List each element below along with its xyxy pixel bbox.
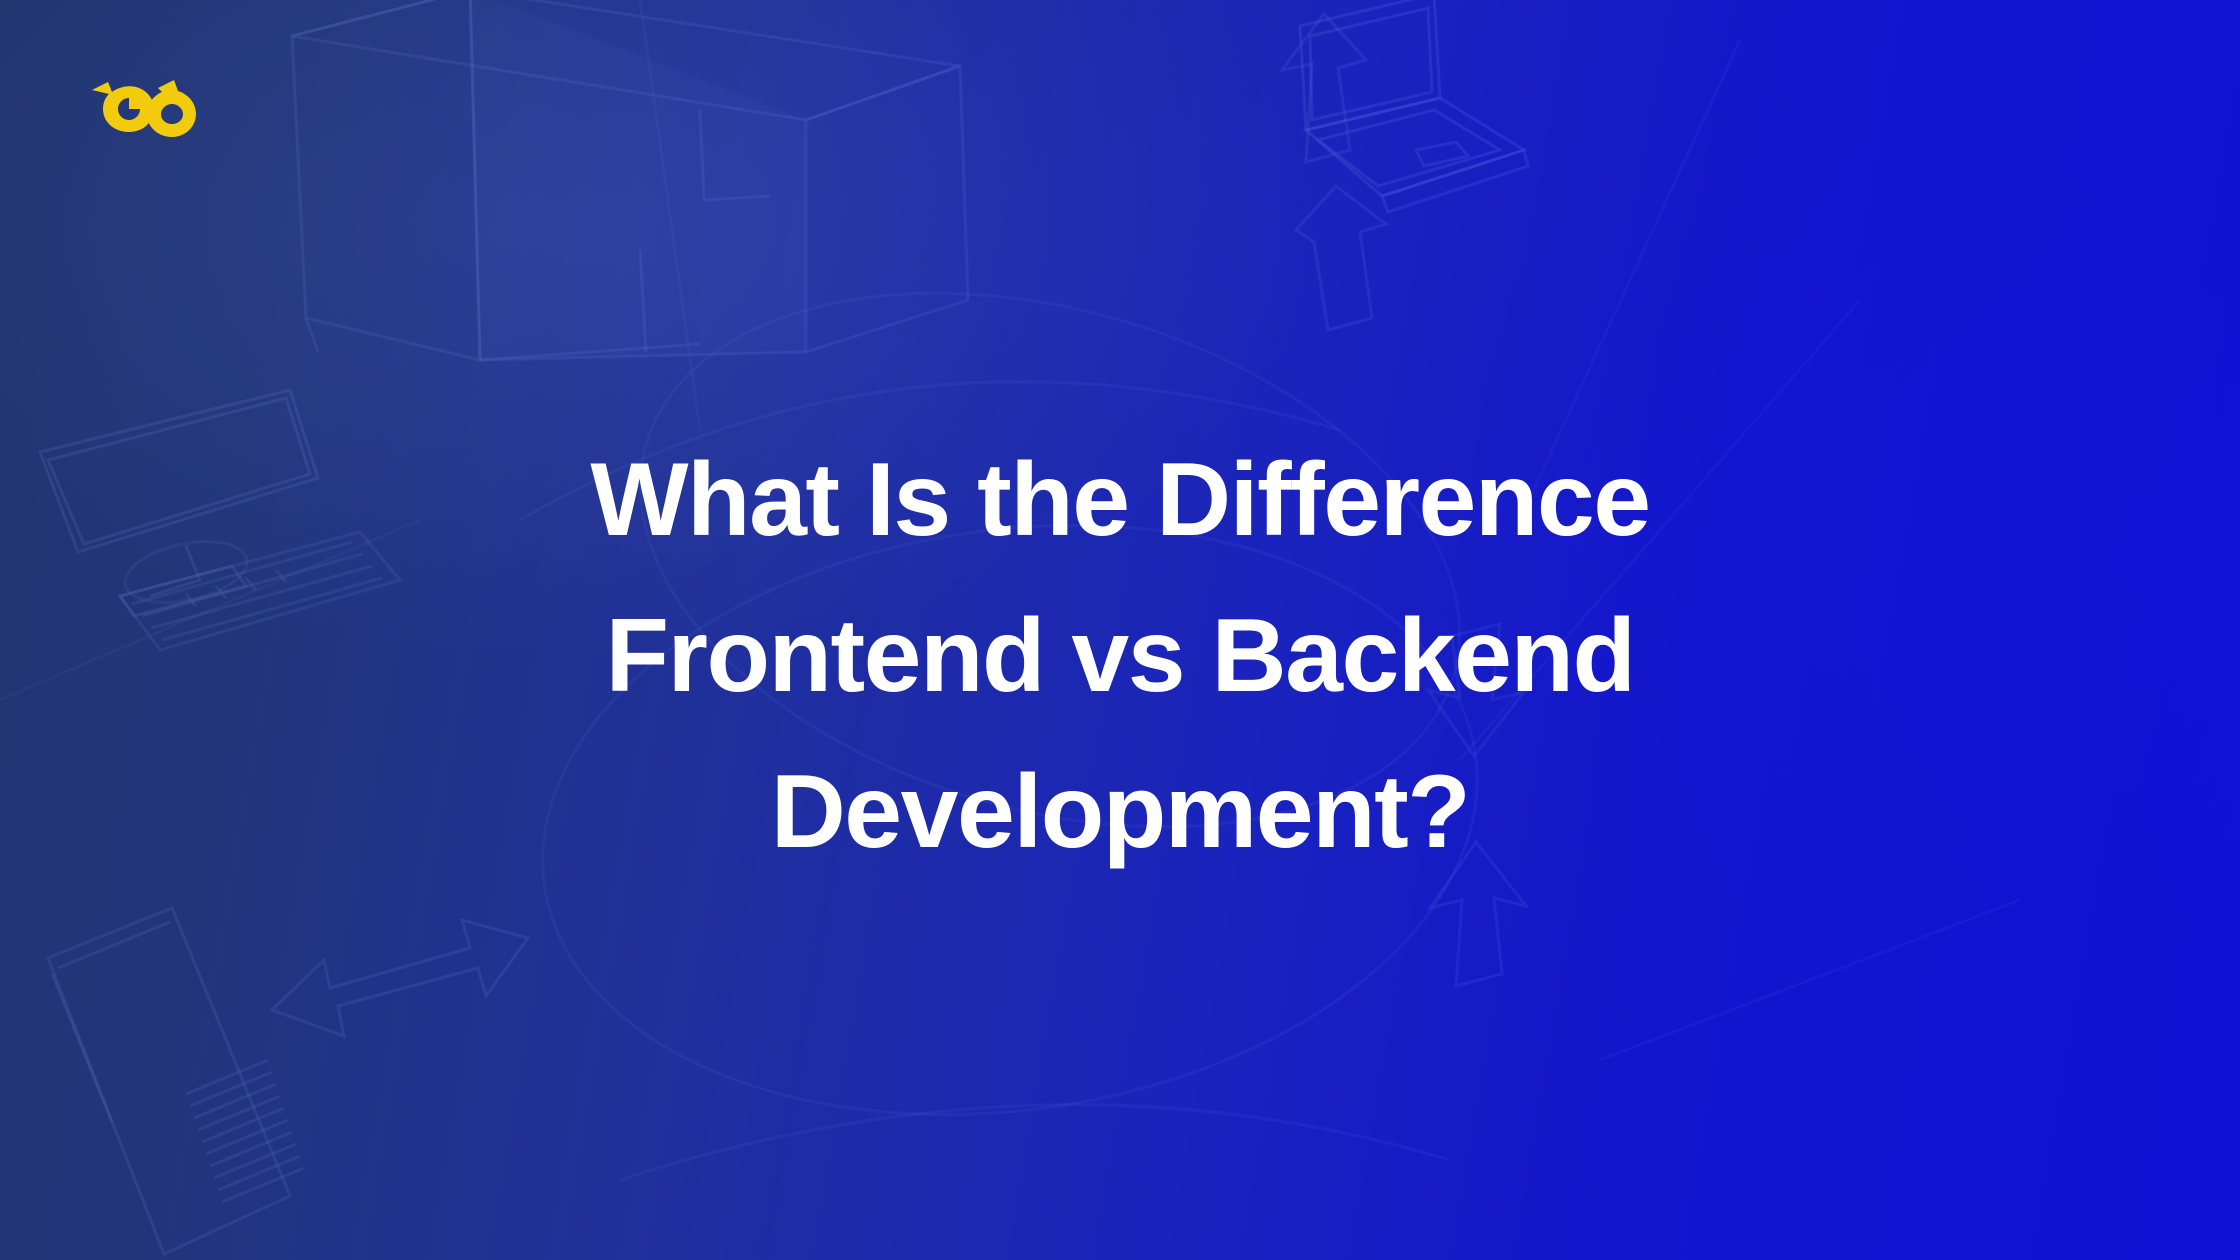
spiral-notebook-line-art — [48, 908, 304, 1254]
up-arrow-line-art — [1296, 186, 1386, 330]
headline-line-2: Frontend vs Backend — [150, 578, 2090, 734]
laptop-line-art — [1300, 0, 1528, 212]
headline-line-3: Development? — [150, 734, 2090, 890]
page-title: What Is the Difference Frontend vs Backe… — [0, 422, 2240, 890]
go-owl-logo[interactable] — [86, 78, 204, 140]
headline-line-1: What Is the Difference — [150, 422, 2090, 578]
double-headed-arrow-line-art — [272, 920, 528, 1036]
slide-canvas: What Is the Difference Frontend vs Backe… — [0, 0, 2240, 1260]
